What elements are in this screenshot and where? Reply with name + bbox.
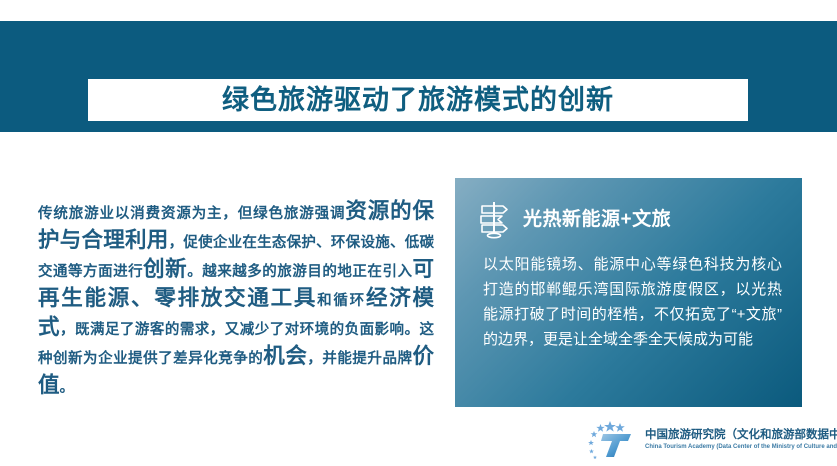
logo-text-block: 中国旅游研究院（文化和旅游部数据中心） China Tourism Academ… <box>645 429 837 451</box>
text-run: 传统旅游业以消费资源为主，但绿色旅游强调 <box>38 206 345 222</box>
header-band: 绿色旅游驱动了旅游模式的创新 <box>0 21 837 132</box>
text-run: 。 <box>60 380 75 396</box>
title-box: 绿色旅游驱动了旅游模式的创新 <box>88 79 748 121</box>
text-run: 。越来越多的旅游目的地正在引入 <box>187 264 412 280</box>
emphasis-run: 创新 <box>143 257 187 281</box>
highlight-card: 光热新能源+文旅 以太阳能镜场、能源中心等绿色科技为核心打造的邯郸鲲乐湾国际旅游… <box>455 178 802 407</box>
logo-org-name-cn: 中国旅游研究院（文化和旅游部数据中心） <box>645 429 837 442</box>
text-run: 和循环 <box>317 293 366 309</box>
page-title: 绿色旅游驱动了旅游模式的创新 <box>222 87 614 114</box>
signpost-icon <box>477 199 511 239</box>
card-header: 光热新能源+文旅 <box>477 194 782 244</box>
card-title: 光热新能源+文旅 <box>523 210 671 229</box>
body-paragraph: 传统旅游业以消费资源为主，但绿色旅游强调资源的保护与合理利用，促使企业在生态保护… <box>38 198 434 401</box>
footer-logo: 中国旅游研究院（文化和旅游部数据中心） China Tourism Academ… <box>586 419 826 461</box>
left-text-column: 传统旅游业以消费资源为主，但绿色旅游强调资源的保护与合理利用，促使企业在生态保护… <box>38 198 434 401</box>
logo-org-name-en: China Tourism Academy (Data Center of th… <box>645 443 837 451</box>
text-run: ，并能提升品牌 <box>307 351 412 367</box>
card-body-text: 以太阳能镜场、能源中心等绿色科技为核心打造的邯郸鲲乐湾国际旅游度假区，以光热能源… <box>483 252 782 352</box>
emphasis-run: 机会 <box>263 344 307 368</box>
cta-t-stars-logo-icon <box>586 420 638 460</box>
